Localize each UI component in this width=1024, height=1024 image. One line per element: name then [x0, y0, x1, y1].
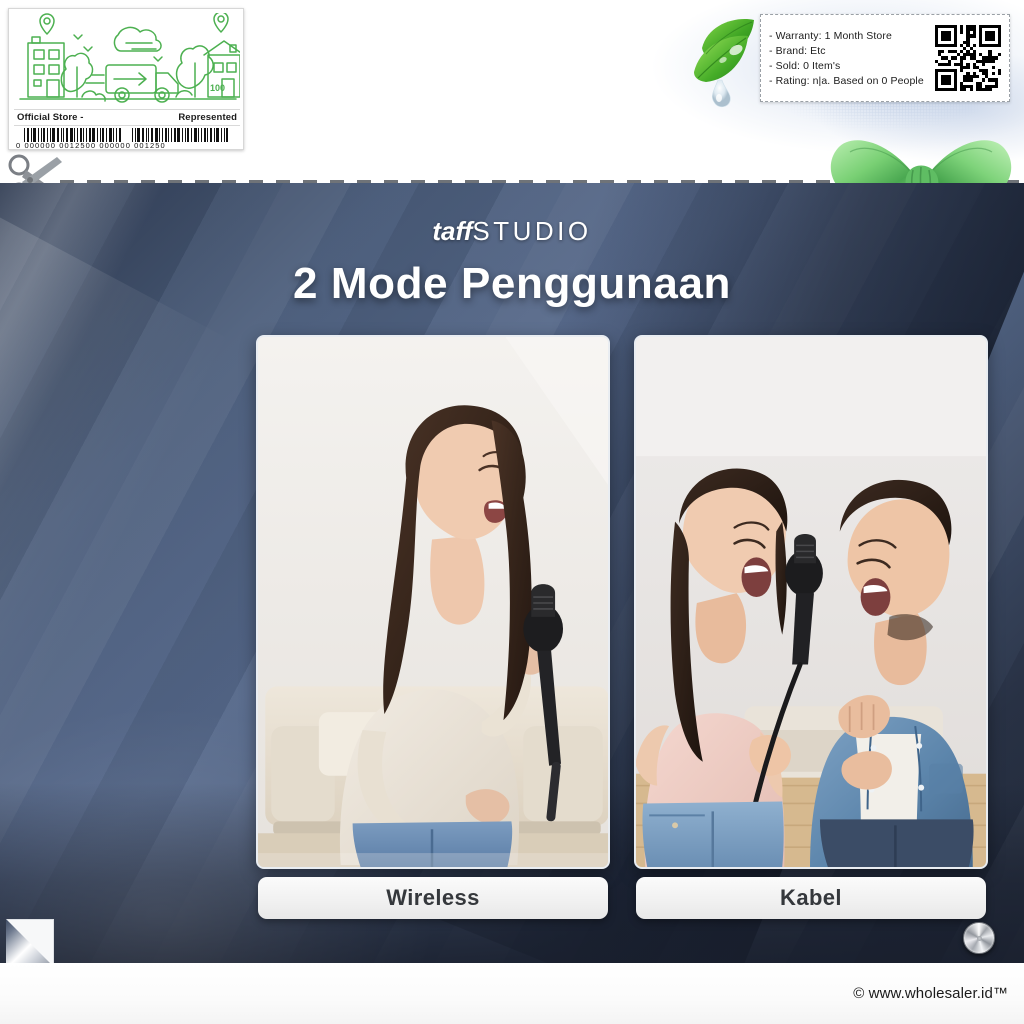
coupon-card: 100 Official Store - Represented 0 00000… [8, 8, 244, 150]
page-title: 2 Mode Penggunaan [0, 259, 1024, 309]
mode-card-kabel[interactable]: Kabel [634, 335, 988, 869]
barcode-numbers: 0 000000 0012500 000000 001250 [16, 141, 240, 150]
barcode-icon: 0 000000 0012500 000000 001250 [14, 128, 240, 149]
official-store-label: Official Store - [17, 112, 84, 123]
couple-singing-wired-microphone-photo [634, 335, 988, 869]
product-info-box: - Warranty: 1 Month Store - Brand: Etc -… [760, 14, 1010, 102]
info-line-brand: - Brand: Etc [769, 45, 931, 57]
leaf-with-waterdrop-icon [692, 14, 770, 114]
mode-card-wireless[interactable]: Wireless [256, 335, 610, 869]
mode-label-pill-wireless: Wireless [258, 877, 608, 919]
delivery-truck-illustration-icon: 100 [14, 13, 240, 107]
brand-suffix: STUDIO [472, 216, 591, 246]
qr-code-icon [935, 25, 1001, 91]
product-listing-image: 100 Official Store - Represented 0 00000… [0, 0, 1024, 1024]
info-line-sold: - Sold: 0 Item's [769, 60, 931, 72]
mode-label-wireless: Wireless [386, 885, 480, 911]
main-panel: taffSTUDIO 2 Mode Penggunaan [0, 183, 1024, 963]
mode-cards: Wireless [256, 335, 992, 895]
product-info-lines: - Warranty: 1 Month Store - Brand: Etc -… [769, 30, 931, 87]
page-corner-fold-icon [6, 919, 54, 967]
copyright-credit: © www.wholesaler.id™ [853, 985, 1008, 1002]
brand-logo: taffSTUDIO [0, 216, 1024, 247]
metal-knob-icon[interactable] [963, 922, 995, 954]
info-line-warranty: - Warranty: 1 Month Store [769, 30, 931, 42]
mode-label-kabel: Kabel [780, 885, 842, 911]
svg-text:100: 100 [210, 83, 225, 93]
represented-label: Represented [178, 112, 237, 123]
info-line-rating: - Rating: n|a. Based on 0 People [769, 75, 931, 87]
coupon-store-strip: Official Store - Represented [14, 109, 240, 126]
woman-singing-wireless-microphone-photo [256, 335, 610, 869]
brand-prefix: taff [432, 216, 472, 246]
footer-bar: © www.wholesaler.id™ [0, 963, 1024, 1024]
mode-label-pill-kabel: Kabel [636, 877, 986, 919]
